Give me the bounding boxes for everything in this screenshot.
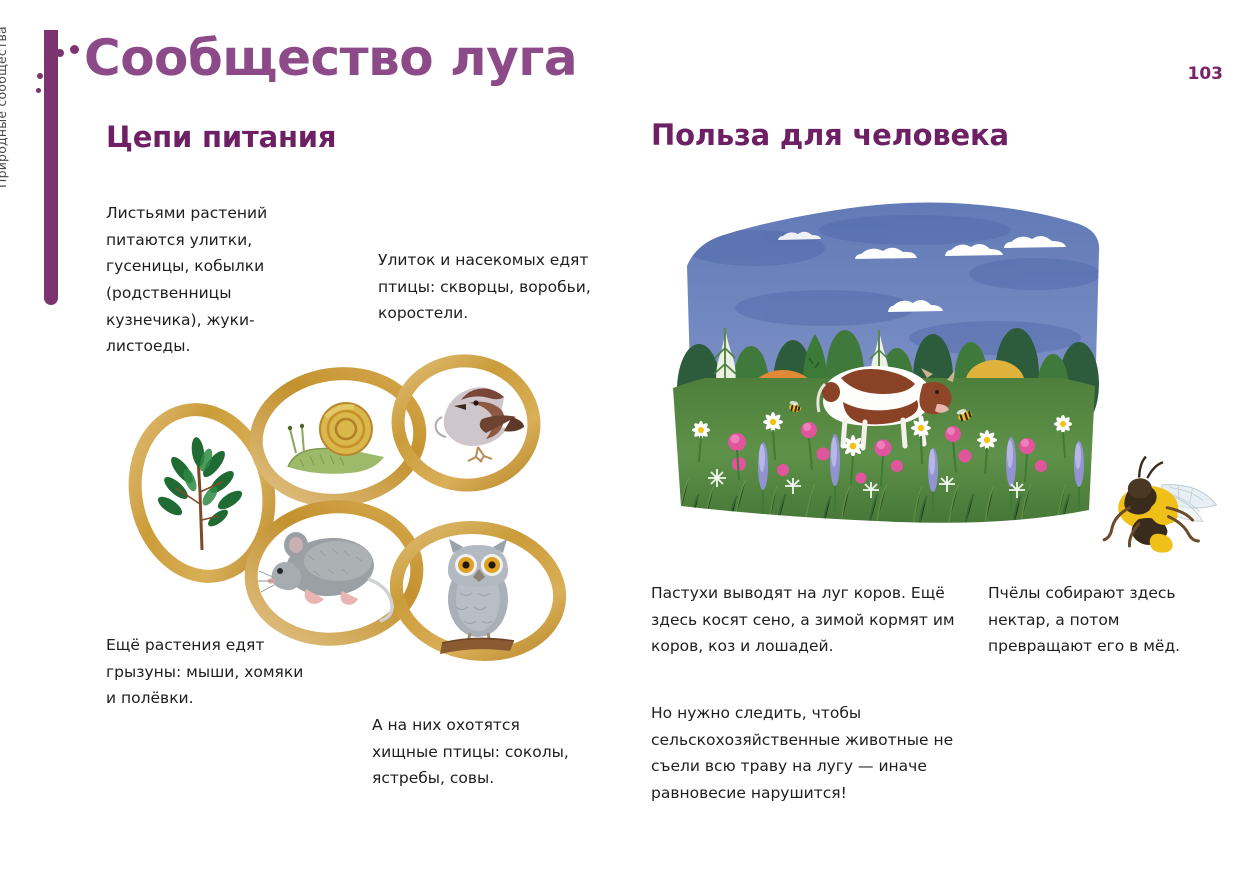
paragraph-birds: Улиток и насекомых едят птицы: скворцы, … — [378, 247, 593, 327]
meadow-svg — [665, 178, 1105, 548]
plant-icon — [148, 430, 256, 555]
decorative-dot — [36, 88, 41, 93]
bumblebee-illustration — [1098, 455, 1228, 565]
page-number: 103 — [1188, 64, 1224, 84]
paragraph-leaves: Листьями растений питаются улитки, гусен… — [106, 200, 321, 360]
paragraph-herders: Пастухи выводят на луг коров. Ещё здесь … — [651, 580, 961, 660]
side-rail — [44, 30, 58, 305]
chain-item-mouse — [268, 515, 400, 630]
decorative-dot — [56, 49, 64, 57]
decorative-dot — [70, 45, 79, 54]
paragraph-balance: Но нужно следить, чтобы сельскохозяйстве… — [651, 700, 956, 807]
chain-item-snail — [280, 383, 395, 488]
section-title-human-benefit: Польза для человека — [651, 121, 1009, 150]
owl-icon — [420, 525, 540, 655]
page-title: Сообщество луга — [84, 33, 577, 83]
side-tab-label: Природные сообщества — [0, 0, 9, 188]
snail-icon — [280, 383, 395, 488]
sparrow-icon — [408, 373, 526, 473]
decorative-dot — [44, 58, 51, 65]
food-chain-diagram — [120, 345, 590, 690]
section-title-food-chains: Цепи питания — [106, 123, 336, 152]
bumblebee-icon — [1098, 455, 1228, 565]
meadow-ground — [665, 366, 1105, 548]
chain-item-plant — [148, 430, 256, 555]
mouse-icon — [268, 515, 400, 630]
paragraph-bees: Пчёлы собирают здесь нектар, а потом пре… — [988, 580, 1203, 660]
chain-item-owl — [420, 525, 540, 655]
meadow-illustration — [665, 178, 1105, 548]
paragraph-raptors: А на них охотятся хищные птицы: соколы, … — [372, 712, 577, 792]
textbook-page: Природные сообщества Сообщество луга 103… — [0, 0, 1250, 885]
chain-item-sparrow — [408, 373, 526, 473]
decorative-dot — [37, 73, 43, 79]
